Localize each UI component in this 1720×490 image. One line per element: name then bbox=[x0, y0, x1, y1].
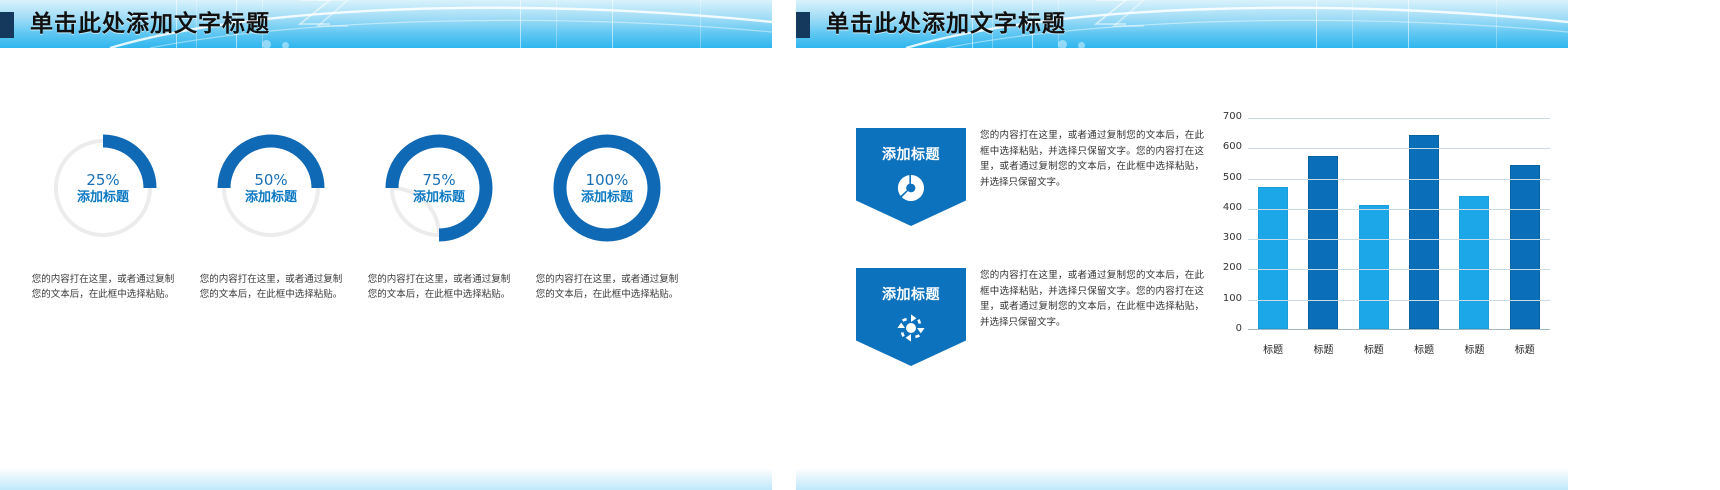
slide-left-bottom-band bbox=[0, 468, 772, 490]
slide-gutter bbox=[772, 0, 796, 490]
y-axis-tick-label: 700 bbox=[1202, 111, 1242, 122]
badge-1[interactable]: 添加标题 bbox=[856, 128, 966, 226]
bar-cell bbox=[1500, 118, 1550, 329]
badge-row-2: 添加标题 您的内容打在这里，或者通过复制您的文本后，在此框中选择粘贴，并选择只保… bbox=[856, 268, 1204, 366]
bar-chart-axis-line bbox=[1248, 329, 1550, 330]
gridline bbox=[1248, 239, 1550, 240]
donut-caption-2: 您的内容打在这里，或者通过复制您的文本后，在此框中选择粘贴。 bbox=[197, 272, 345, 302]
bar-cell bbox=[1449, 118, 1499, 329]
donut-chart-icon bbox=[895, 172, 927, 204]
donut-item-2[interactable]: 50% 添加标题 您的内容打在这里，或者通过复制您的文本后，在此框中选择粘贴。 bbox=[182, 132, 360, 302]
bar-cell bbox=[1298, 118, 1348, 329]
x-axis-tick-label: 标题 bbox=[1349, 341, 1399, 356]
gridline bbox=[1248, 269, 1550, 270]
bar-chart-x-axis: 标题标题标题标题标题标题 bbox=[1248, 341, 1550, 356]
header-dot bbox=[262, 40, 271, 48]
y-axis-tick-label: 200 bbox=[1202, 262, 1242, 273]
x-axis-tick-label: 标题 bbox=[1248, 341, 1298, 356]
donut-percent-1: 25% bbox=[86, 171, 119, 189]
header-dot bbox=[1078, 42, 1085, 48]
header-dot bbox=[282, 42, 289, 48]
donut-group: 25% 添加标题 您的内容打在这里，或者通过复制您的文本后，在此框中选择粘贴。 … bbox=[0, 132, 772, 362]
bar-cell bbox=[1349, 118, 1399, 329]
slide-right-bottom-band bbox=[796, 468, 1568, 490]
donut-chart-3: 75% 添加标题 bbox=[383, 132, 495, 244]
donut-title-4: 添加标题 bbox=[576, 189, 638, 206]
y-axis-tick-label: 0 bbox=[1202, 323, 1242, 334]
donut-caption-4: 您的内容打在这里，或者通过复制您的文本后，在此框中选择粘贴。 bbox=[533, 272, 681, 302]
donut-item-1[interactable]: 25% 添加标题 您的内容打在这里，或者通过复制您的文本后，在此框中选择粘贴。 bbox=[14, 132, 192, 302]
header-dot bbox=[1058, 40, 1067, 48]
gridline bbox=[1248, 300, 1550, 301]
donut-label-2: 50% 添加标题 bbox=[215, 132, 327, 244]
badge-1-label: 添加标题 bbox=[856, 144, 966, 164]
x-axis-tick-label: 标题 bbox=[1399, 341, 1449, 356]
bar-cell bbox=[1248, 118, 1298, 329]
slide-right-header: 单击此处添加文字标题 bbox=[796, 0, 1568, 48]
donut-label-3: 75% 添加标题 bbox=[383, 132, 495, 244]
donut-percent-2: 50% bbox=[254, 171, 287, 189]
bar-chart-bars bbox=[1248, 118, 1550, 329]
bar-chart: 0100200300400500600700 标题标题标题标题标题标题 bbox=[1202, 118, 1550, 364]
donut-chart-1: 25% 添加标题 bbox=[47, 132, 159, 244]
gridline bbox=[1248, 179, 1550, 180]
bar[interactable] bbox=[1510, 165, 1540, 329]
donut-item-3[interactable]: 75% 添加标题 您的内容打在这里，或者通过复制您的文本后，在此框中选择粘贴。 bbox=[350, 132, 528, 302]
bar[interactable] bbox=[1308, 156, 1338, 329]
y-axis-tick-label: 400 bbox=[1202, 202, 1242, 213]
donut-label-4: 100% 添加标题 bbox=[551, 132, 663, 244]
bar-cell bbox=[1399, 118, 1449, 329]
bar[interactable] bbox=[1359, 205, 1389, 329]
badge-2-label: 添加标题 bbox=[856, 284, 966, 304]
donut-title-1: 添加标题 bbox=[72, 189, 134, 206]
slide-right-title: 单击此处添加文字标题 bbox=[826, 8, 1066, 40]
donut-caption-1: 您的内容打在这里，或者通过复制您的文本后，在此框中选择粘贴。 bbox=[29, 272, 177, 302]
donut-title-3: 添加标题 bbox=[408, 189, 470, 206]
gridline bbox=[1248, 148, 1550, 149]
donut-label-1: 25% 添加标题 bbox=[47, 132, 159, 244]
gridline bbox=[1248, 118, 1550, 119]
y-axis-tick-label: 300 bbox=[1202, 232, 1242, 243]
donut-caption-3: 您的内容打在这里，或者通过复制您的文本后，在此框中选择粘贴。 bbox=[365, 272, 513, 302]
header-accent-block bbox=[796, 12, 810, 38]
donut-percent-3: 75% bbox=[422, 171, 455, 189]
slide-right: 单击此处添加文字标题 添加标题 您的内容打在这里，或者通过复制您的文本后，在此框… bbox=[796, 0, 1568, 490]
header-accent-block bbox=[0, 12, 14, 38]
y-axis-tick-label: 500 bbox=[1202, 172, 1242, 183]
donut-item-4[interactable]: 100% 添加标题 您的内容打在这里，或者通过复制您的文本后，在此框中选择粘贴。 bbox=[518, 132, 696, 302]
donut-percent-4: 100% bbox=[586, 171, 629, 189]
presentation-stage: 单击此处添加文字标题 25% 添加标题 您的内容打在这里，或者通过复制您的文本后… bbox=[0, 0, 1720, 490]
badge-row-1: 添加标题 您的内容打在这里，或者通过复制您的文本后，在此框中选择粘贴，并选择只保… bbox=[856, 128, 1204, 226]
badge-1-body: 您的内容打在这里，或者通过复制您的文本后，在此框中选择粘贴，并选择只保留文字。您… bbox=[980, 128, 1204, 190]
bar-chart-plot-area bbox=[1248, 118, 1550, 330]
recycle-arrows-icon bbox=[895, 312, 927, 344]
slide-left-title: 单击此处添加文字标题 bbox=[30, 8, 270, 40]
donut-chart-2: 50% 添加标题 bbox=[215, 132, 327, 244]
y-axis-tick-label: 100 bbox=[1202, 293, 1242, 304]
x-axis-tick-label: 标题 bbox=[1298, 341, 1348, 356]
gridline bbox=[1248, 209, 1550, 210]
slide-left-header: 单击此处添加文字标题 bbox=[0, 0, 772, 48]
badge-2[interactable]: 添加标题 bbox=[856, 268, 966, 366]
slide-left: 单击此处添加文字标题 25% 添加标题 您的内容打在这里，或者通过复制您的文本后… bbox=[0, 0, 772, 490]
badge-2-body: 您的内容打在这里，或者通过复制您的文本后，在此框中选择粘贴，并选择只保留文字。您… bbox=[980, 268, 1204, 330]
x-axis-tick-label: 标题 bbox=[1500, 341, 1550, 356]
bar[interactable] bbox=[1459, 196, 1489, 329]
y-axis-tick-label: 600 bbox=[1202, 141, 1242, 152]
donut-title-2: 添加标题 bbox=[240, 189, 302, 206]
x-axis-tick-label: 标题 bbox=[1449, 341, 1499, 356]
donut-chart-4: 100% 添加标题 bbox=[551, 132, 663, 244]
